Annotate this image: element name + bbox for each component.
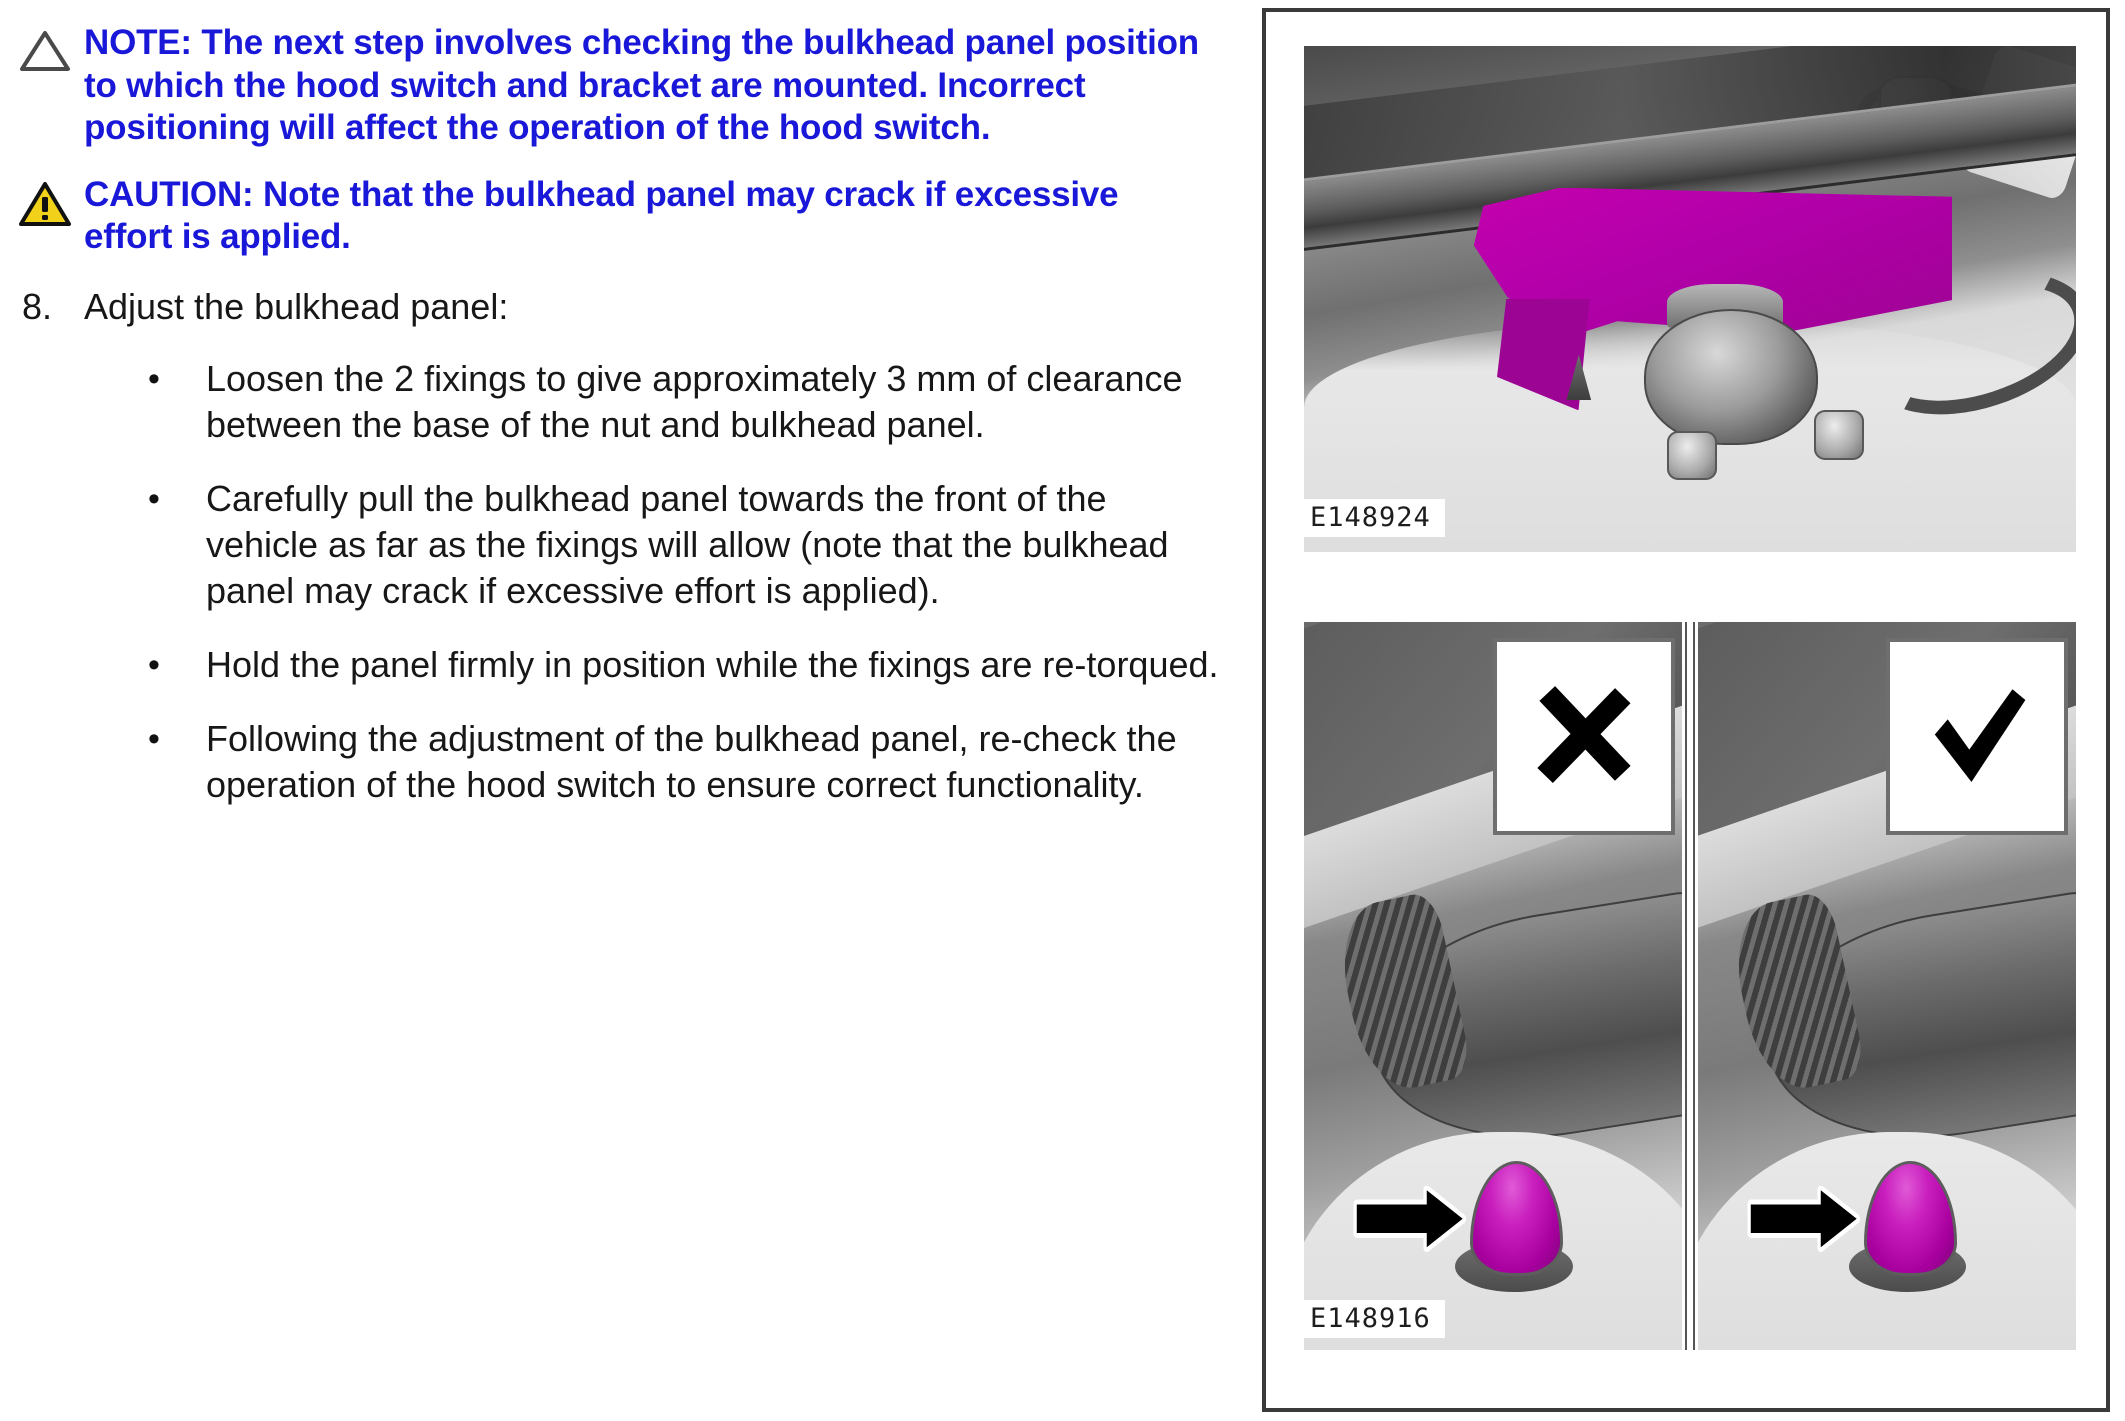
list-item: • Following the adjustment of the bulkhe… <box>0 688 1255 808</box>
step-bullet-list: • Loosen the 2 fixings to give approxima… <box>0 328 1255 809</box>
bullet-marker: • <box>148 356 206 402</box>
list-item: • Hold the panel firmly in position whil… <box>0 614 1255 688</box>
cross-mark-box <box>1493 638 1675 835</box>
bullet-marker: • <box>148 716 206 762</box>
list-item: • Loosen the 2 fixings to give approxima… <box>0 328 1255 448</box>
bullet-text: Carefully pull the bulkhead panel toward… <box>206 476 1226 614</box>
bullet-text: Following the adjustment of the bulkhead… <box>206 716 1226 808</box>
instruction-text-column: NOTE: The next step involves checking th… <box>0 0 1255 1421</box>
caution-text: CAUTION: Note that the bulkhead panel ma… <box>84 174 1184 259</box>
bullet-text: Loosen the 2 fixings to give approximate… <box>206 356 1226 448</box>
check-mark-box <box>1886 638 2068 835</box>
bullet-marker: • <box>148 476 206 522</box>
figure-caption-bottom: E148916 <box>1304 1300 1445 1338</box>
bullet-marker: • <box>148 642 206 688</box>
bullet-text: Hold the panel firmly in position while … <box>206 642 1219 688</box>
figure-caption-top: E148924 <box>1304 499 1445 537</box>
note-text: NOTE: The next step involves checking th… <box>84 22 1234 150</box>
figure-panel: E148924 <box>1262 8 2110 1412</box>
pointer-arrow-icon <box>1353 1186 1466 1252</box>
figure-image-bottom <box>1304 622 2076 1350</box>
comparison-divider <box>1685 622 1695 1350</box>
caution-admonition: CAUTION: Note that the bulkhead panel ma… <box>0 150 1255 259</box>
figure-image-top <box>1304 46 2076 552</box>
triangle-outline-icon <box>18 28 72 79</box>
service-manual-page: NOTE: The next step involves checking th… <box>0 0 2125 1421</box>
step-number: 8. <box>22 285 84 328</box>
pointer-arrow-icon <box>1747 1186 1860 1252</box>
comparison-photo-correct <box>1698 622 2076 1350</box>
step-item: 8. Adjust the bulkhead panel: <box>0 259 1255 328</box>
list-item: • Carefully pull the bulkhead panel towa… <box>0 448 1255 614</box>
note-admonition: NOTE: The next step involves checking th… <box>0 0 1255 150</box>
warning-triangle-icon <box>18 180 72 233</box>
step-heading: Adjust the bulkhead panel: <box>84 285 508 328</box>
comparison-photo-incorrect <box>1304 622 1682 1350</box>
